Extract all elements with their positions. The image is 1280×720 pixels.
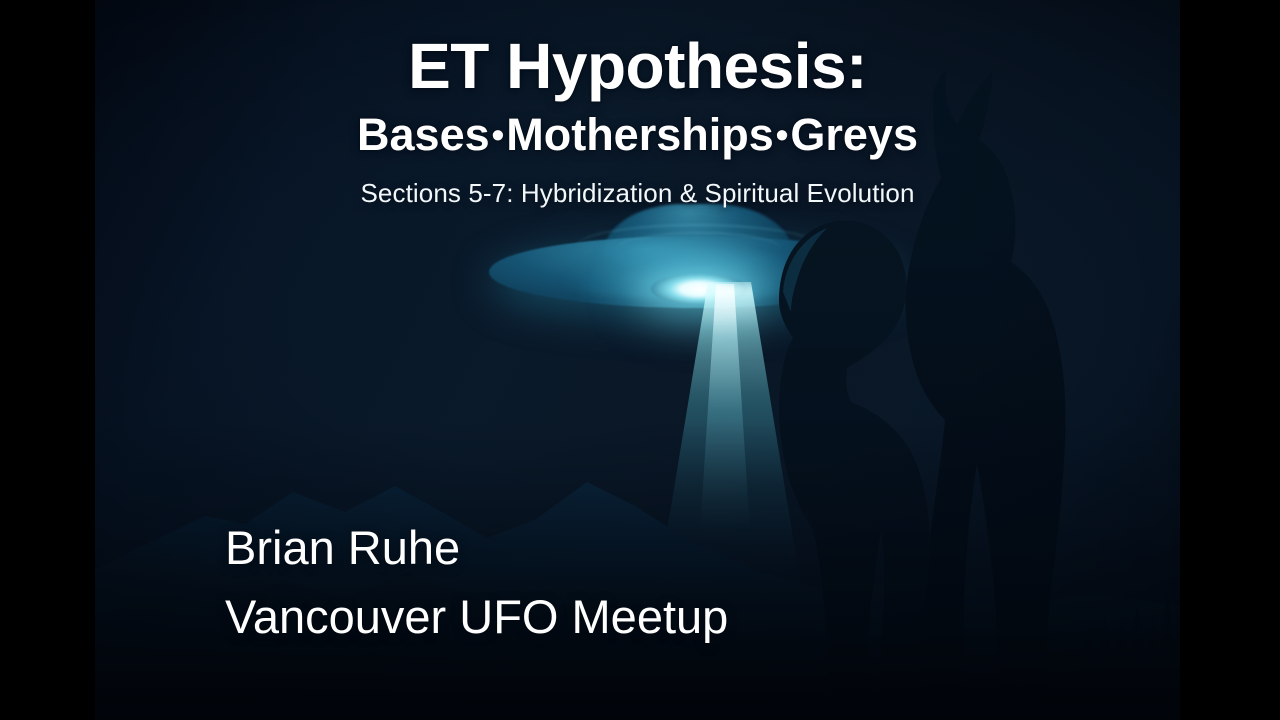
ground-darkening <box>95 420 1180 720</box>
letterbox-right <box>1180 0 1280 720</box>
artwork-canvas: ET Hypothesis: Bases•Motherships•Greys S… <box>95 0 1180 720</box>
slide-root: ET Hypothesis: Bases•Motherships•Greys S… <box>0 0 1280 720</box>
letterbox-left <box>0 0 95 720</box>
